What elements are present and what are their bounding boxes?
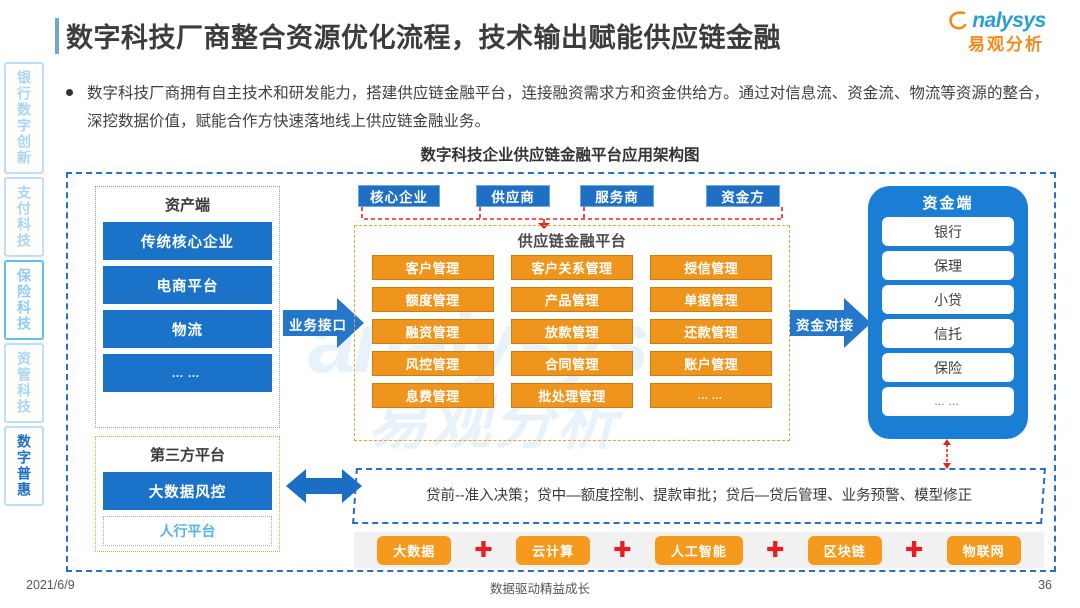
arrow-left-right-icon [286, 466, 362, 506]
fund-item-more[interactable]: …… [882, 387, 1014, 416]
third-party-item-bigdata-riskcontrol[interactable]: 大数据风控 [103, 472, 272, 510]
plus-icon: ✚ [474, 539, 492, 561]
sidebar-item-asset-mgmt[interactable]: 资管科技 [4, 343, 44, 423]
sidebar-item-bank[interactable]: 银行数字创新 [4, 62, 44, 174]
module-quota-mgmt[interactable]: 额度管理 [372, 287, 494, 312]
tech-tag-bigdata[interactable]: 大数据 [377, 536, 451, 565]
actor-chip-core-enterprise[interactable]: 核心企业 [358, 185, 440, 207]
technology-band: 大数据 ✚ 云计算 ✚ 人工智能 ✚ 区块链 ✚ 物联网 [354, 532, 1044, 568]
sidebar-tab-rail: 银行数字创新 支付科技 保险科技 资管科技 数字普惠 [2, 62, 46, 562]
platform-module-grid: 客户管理 客户关系管理 授信管理 额度管理 产品管理 单据管理 融资管理 放款管… [355, 255, 789, 408]
plus-icon: ✚ [905, 539, 923, 561]
asset-panel-title: 资产端 [103, 194, 272, 215]
third-party-item-pboc-platform[interactable]: 人行平台 [103, 516, 272, 546]
third-party-panel: 第三方平台 大数据风控 人行平台 [95, 436, 280, 552]
actor-chip-funder[interactable]: 资金方 [706, 185, 780, 207]
module-account-mgmt[interactable]: 账户管理 [650, 351, 772, 376]
fund-to-loan-stage-connector [940, 439, 954, 469]
tech-tag-cloud-computing[interactable]: 云计算 [516, 536, 590, 565]
figure-caption: 数字科技企业供应链金融平台应用架构图 [60, 143, 1060, 165]
fund-item-factoring[interactable]: 保理 [882, 251, 1014, 280]
tech-tag-ai[interactable]: 人工智能 [655, 536, 743, 565]
module-batch-processing-mgmt[interactable]: 批处理管理 [511, 383, 633, 408]
page-title: 数字科技厂商整合资源优化流程，技术输出赋能供应链金融 [66, 16, 781, 55]
asset-item-core-enterprise[interactable]: 传统核心企业 [103, 222, 272, 260]
module-more[interactable]: …… [650, 383, 772, 408]
module-contract-mgmt[interactable]: 合同管理 [511, 351, 633, 376]
module-document-mgmt[interactable]: 单据管理 [650, 287, 772, 312]
fund-item-microloan[interactable]: 小贷 [882, 285, 1014, 314]
analysys-logo: nalysys 易观分析 [946, 8, 1066, 62]
module-crm[interactable]: 客户关系管理 [511, 255, 633, 280]
business-interface-arrow: 业务接口 [283, 296, 365, 350]
bullet-dot-icon [66, 89, 73, 96]
actor-chip-service-provider[interactable]: 服务商 [580, 185, 654, 207]
module-repayment-mgmt[interactable]: 还款管理 [650, 319, 772, 344]
plus-icon: ✚ [613, 539, 631, 561]
tech-tag-iot[interactable]: 物联网 [947, 536, 1021, 565]
platform-title: 供应链金融平台 [355, 230, 789, 251]
page-header: 数字科技厂商整合资源优化流程，技术输出赋能供应链金融 nalysys 易观分析 [0, 0, 1080, 70]
footer-slogan: 数据驱动精益成长 [0, 578, 1080, 597]
fund-docking-label: 资金对接 [784, 314, 866, 334]
loan-stage-banner: 贷前--准入决策；贷中—额度控制、提款审批；贷后—贷后管理、业务预警、模型修正 [352, 468, 1046, 524]
bullet-block: 数字科技厂商拥有自主技术和研发能力，搭建供应链金融平台，连接融资需求方和资金供给… [60, 80, 1060, 136]
bidirectional-arrow [286, 466, 362, 506]
sidebar-item-payment[interactable]: 支付科技 [4, 177, 44, 257]
fund-docking-arrow: 资金对接 [790, 296, 872, 350]
logo-text-en: nalysys [972, 9, 1046, 32]
actor-chip-supplier[interactable]: 供应商 [476, 185, 550, 207]
module-financing-mgmt[interactable]: 融资管理 [372, 319, 494, 344]
fund-item-insurance[interactable]: 保险 [882, 353, 1014, 382]
fund-capsule-title: 资金端 [882, 192, 1014, 213]
bullet-paragraph: 数字科技厂商拥有自主技术和研发能力，搭建供应链金融平台，连接融资需求方和资金供给… [87, 80, 1049, 136]
asset-item-more[interactable]: …… [103, 354, 272, 392]
logo-wordmark-en: nalysys [946, 8, 1066, 34]
module-interest-fee-mgmt[interactable]: 息费管理 [372, 383, 494, 408]
footer-page-number: 36 [1038, 578, 1052, 592]
module-loan-disbursement-mgmt[interactable]: 放款管理 [511, 319, 633, 344]
bullet-row: 数字科技厂商拥有自主技术和研发能力，搭建供应链金融平台，连接融资需求方和资金供给… [60, 80, 1060, 136]
supply-chain-finance-platform: 供应链金融平台 客户管理 客户关系管理 授信管理 额度管理 产品管理 单据管理 … [354, 225, 790, 441]
third-party-panel-title: 第三方平台 [103, 444, 272, 465]
module-customer-mgmt[interactable]: 客户管理 [372, 255, 494, 280]
title-accent-bar [55, 18, 59, 54]
tech-tag-blockchain[interactable]: 区块链 [808, 536, 882, 565]
module-product-mgmt[interactable]: 产品管理 [511, 287, 633, 312]
module-credit-mgmt[interactable]: 授信管理 [650, 255, 772, 280]
module-risk-control-mgmt[interactable]: 风控管理 [372, 351, 494, 376]
page-footer: 2021/6/9 数据驱动精益成长 36 [0, 578, 1080, 602]
fund-side-capsule: 资金端 银行 保理 小贷 信托 保险 …… [868, 186, 1028, 439]
asset-side-panel: 资产端 传统核心企业 电商平台 物流 …… [95, 186, 280, 428]
logo-text-cn: 易观分析 [946, 34, 1066, 56]
fund-item-trust[interactable]: 信托 [882, 319, 1014, 348]
asset-item-logistics[interactable]: 物流 [103, 310, 272, 348]
business-interface-label: 业务接口 [277, 314, 359, 334]
logo-swoosh-icon [948, 10, 968, 32]
plus-icon: ✚ [766, 539, 784, 561]
asset-item-ecommerce[interactable]: 电商平台 [103, 266, 272, 304]
sidebar-item-digital-inclusive[interactable]: 数字普惠 [4, 426, 44, 506]
loan-stage-text: 贷前--准入决策；贷中—额度控制、提款审批；贷后—贷后管理、业务预警、模型修正 [426, 484, 972, 509]
fund-item-bank[interactable]: 银行 [882, 217, 1014, 246]
sidebar-item-insurance[interactable]: 保险科技 [4, 260, 44, 340]
architecture-diagram: analysys 易观分析 资产端 传统核心企业 电商平台 物流 …… 第三方平… [66, 172, 1056, 572]
